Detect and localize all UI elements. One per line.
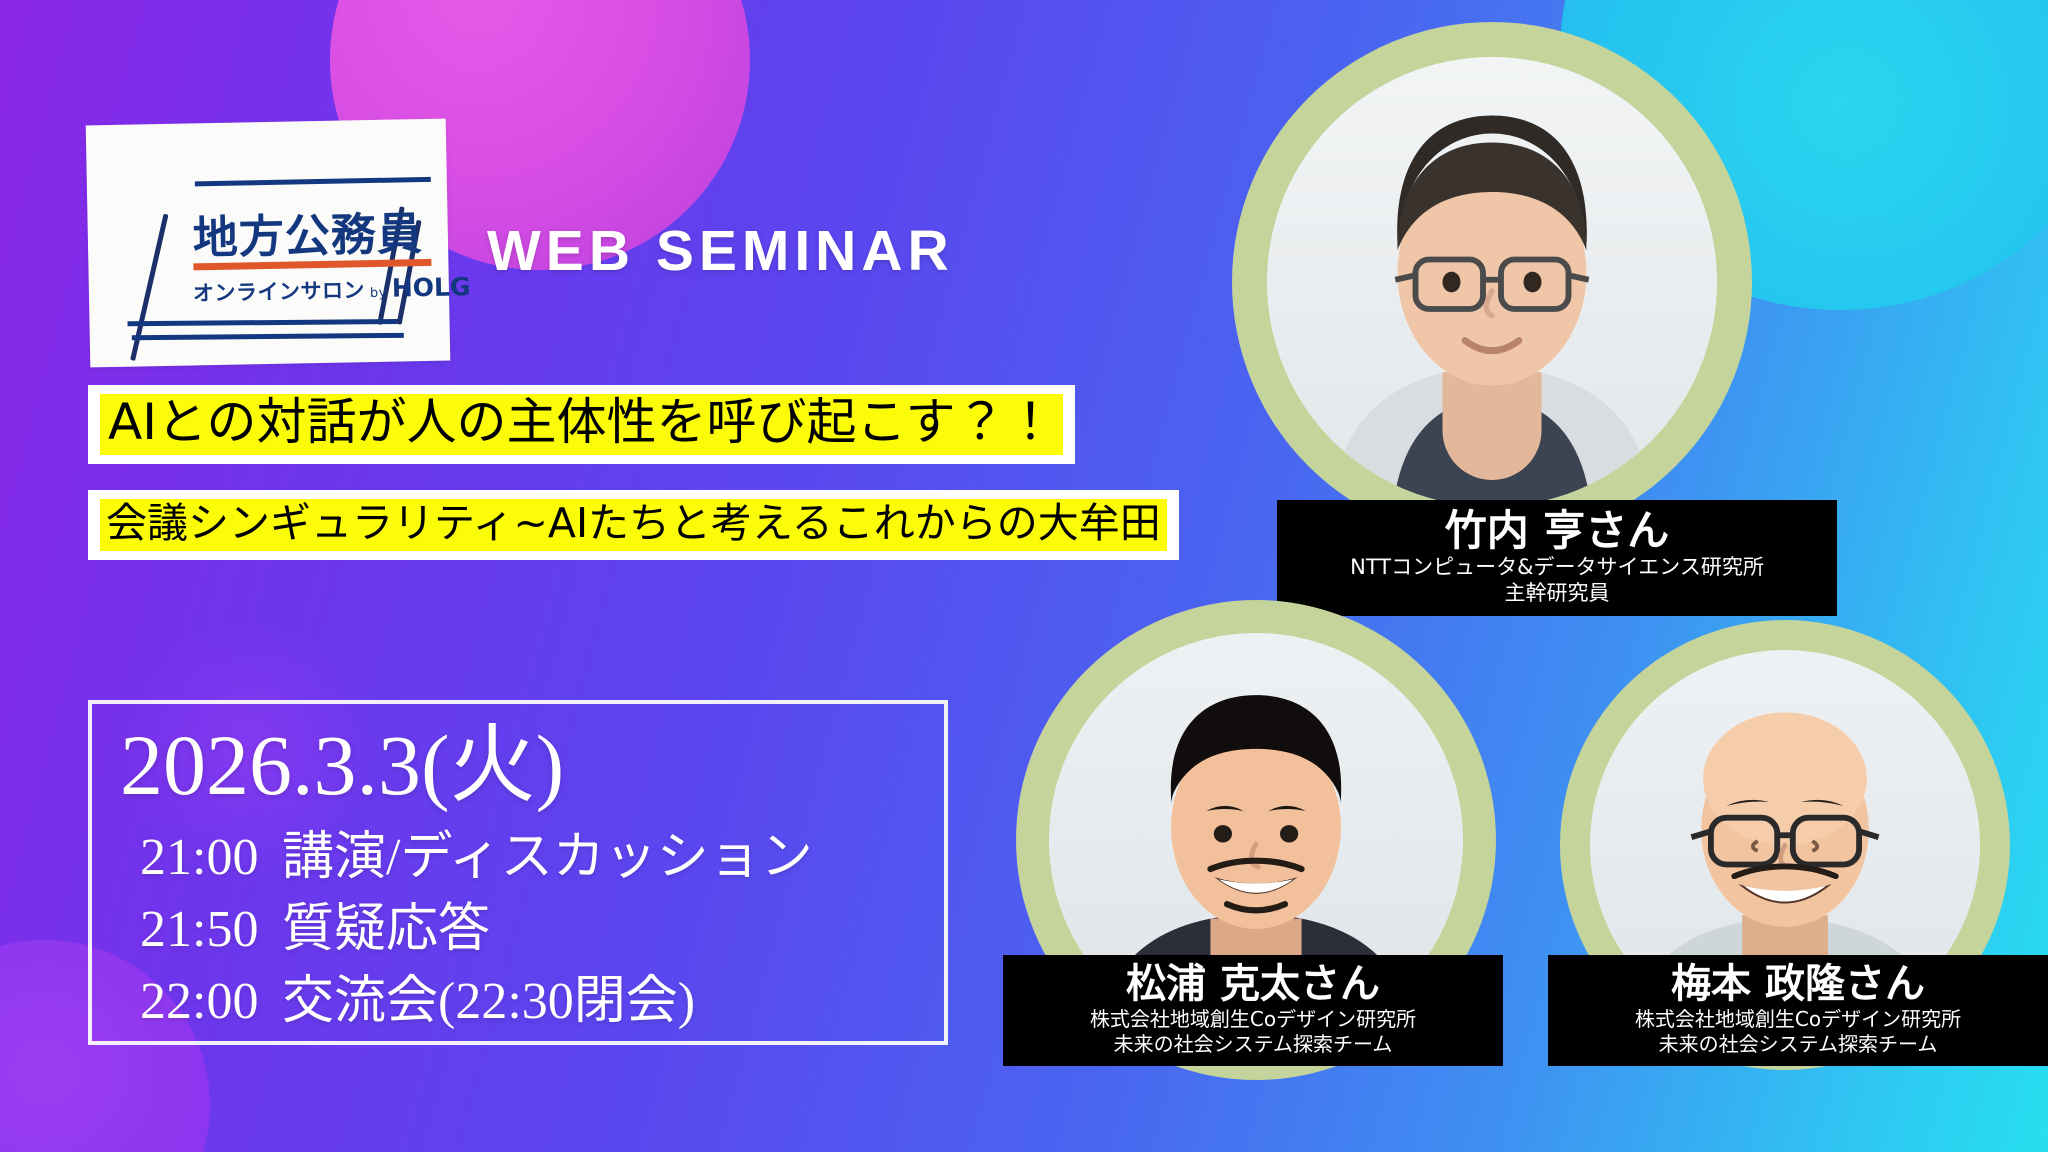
speaker-3-org: 株式会社地域創生Coデザイン研究所 <box>1558 1007 2038 1032</box>
schedule-time: 21:00 <box>140 832 268 884</box>
logo-subtitle-by: by <box>370 286 387 301</box>
schedule-row: 22:00交流会(22:30閉会) <box>140 976 695 1028</box>
speaker-3-nameplate: 梅本 政隆さん 株式会社地域創生Coデザイン研究所 未来の社会システム探索チーム <box>1548 955 2048 1066</box>
speaker-2-name: 松浦 克太さん <box>1013 962 1493 1007</box>
speaker-1-nameplate: 竹内 亨さん NTTコンピュータ&データサイエンス研究所 主幹研究員 <box>1277 500 1837 616</box>
schedule-box: 2026.3.3(火) 21:00講演/ディスカッション 21:50質疑応答 2… <box>88 700 948 1045</box>
logo-rule-top <box>195 177 431 187</box>
speaker-2-role: 未来の社会システム探索チーム <box>1013 1032 1493 1057</box>
schedule-label: 交流会(22:30閉会) <box>282 973 695 1030</box>
speaker-2-org: 株式会社地域創生Coデザイン研究所 <box>1013 1007 1493 1032</box>
schedule-row: 21:50質疑応答 <box>140 904 490 956</box>
speaker-2-nameplate: 松浦 克太さん 株式会社地域創生Coデザイン研究所 未来の社会システム探索チーム <box>1003 955 1503 1066</box>
schedule-time: 21:50 <box>140 904 268 956</box>
logo-subtitle-jp: オンラインサロン <box>193 274 366 307</box>
logo-rule-bottom-2 <box>132 333 404 340</box>
title-line-1-wrapper: AIとの対話が人の主体性を呼び起こす？！ <box>88 385 1075 464</box>
logo-subtitle-org: HOLG <box>392 272 471 303</box>
logo-rule-bottom-1 <box>128 319 398 326</box>
schedule-row: 21:00講演/ディスカッション <box>140 832 813 884</box>
seminar-poster: 地方公務員 オンラインサロン by HOLG WEB SEMINAR AIとの対… <box>0 0 2048 1152</box>
organization-logo-card: 地方公務員 オンラインサロン by HOLG <box>86 119 451 368</box>
speaker-1-org: NTTコンピュータ&データサイエンス研究所 <box>1287 554 1827 580</box>
schedule-label: 講演/ディスカッション <box>282 829 813 886</box>
speaker-1-portrait <box>1267 57 1717 507</box>
logo-subtitle: オンラインサロン by HOLG <box>193 272 471 307</box>
logo-main-text: 地方公務員 <box>192 197 423 266</box>
speaker-3-name: 梅本 政隆さん <box>1558 962 2038 1007</box>
title-line-2-wrapper: 会議シンギュラリティ~AIたちと考えるこれからの大牟田 <box>88 490 1179 560</box>
speaker-1-role: 主幹研究員 <box>1287 580 1827 606</box>
schedule-label: 質疑応答 <box>282 901 490 958</box>
event-date: 2026.3.3(火) <box>120 722 564 808</box>
schedule-time: 22:00 <box>140 976 268 1028</box>
speaker-3-role: 未来の社会システム探索チーム <box>1558 1032 2038 1057</box>
title-line-2: 会議シンギュラリティ~AIたちと考えるこれからの大牟田 <box>100 499 1167 551</box>
speaker-1-name: 竹内 亨さん <box>1287 507 1827 554</box>
eyebrow-web-seminar: WEB SEMINAR <box>487 218 954 284</box>
title-line-1: AIとの対話が人の主体性を呼び起こす？！ <box>100 394 1063 455</box>
